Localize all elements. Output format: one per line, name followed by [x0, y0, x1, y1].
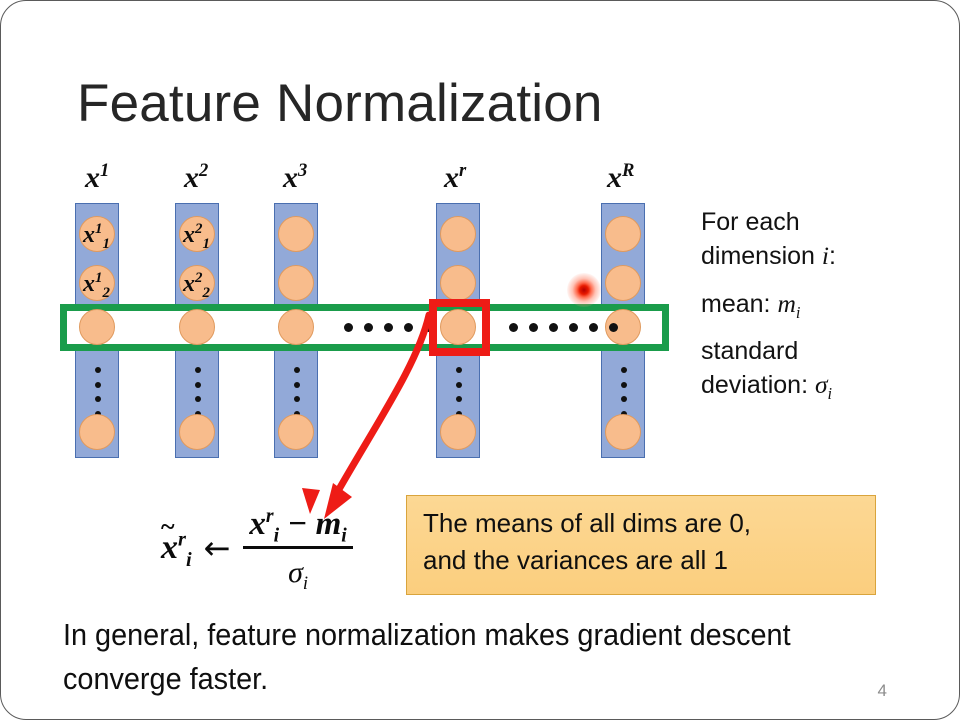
node-label-x2-1: x21 — [183, 223, 210, 247]
red-arrowhead-small — [298, 488, 324, 518]
summary-line-1: In general, feature normalization makes … — [63, 613, 881, 657]
node-circle — [278, 216, 314, 252]
node-label-sub: 1 — [102, 236, 109, 252]
node-circle — [440, 265, 476, 301]
column-label-base: x — [184, 161, 199, 194]
horizontal-ellipsis-right — [509, 323, 618, 332]
dimension-stats-text: For each dimension i: mean: mi standard … — [701, 206, 941, 416]
column-label-3: x3 — [283, 161, 307, 195]
node-label-sup: 2 — [195, 221, 202, 237]
mean-block: mean: mi — [701, 287, 941, 321]
node-label-x1-1: x11 — [83, 223, 110, 247]
numerator-x-base: x — [249, 506, 266, 542]
summary-text: In general, feature normalization makes … — [63, 613, 881, 701]
page-number: 4 — [878, 681, 887, 701]
node-circle-highlighted — [179, 309, 215, 345]
red-curved-arrow — [296, 311, 496, 526]
mean-symbol-base: m — [777, 289, 795, 318]
node-circle — [605, 265, 641, 301]
formula-lhs-sup: r — [178, 528, 186, 550]
deviation-label: deviation: — [701, 371, 815, 399]
formula-denominator: σi — [288, 549, 308, 589]
column-label-R: xR — [607, 161, 634, 195]
standard-line: standard — [701, 335, 941, 368]
for-each-line: For each — [701, 206, 941, 239]
column-label-sup: r — [459, 160, 466, 181]
for-each-dimension-block: For each dimension i: — [701, 206, 941, 273]
sigma-symbol-sub: i — [828, 384, 833, 403]
formula-lhs: ~xri — [161, 531, 192, 565]
slide-canvas: Feature Normalization x1 x2 x3 xr xR x11… — [0, 0, 960, 720]
node-label-base: x — [83, 271, 95, 297]
dimension-colon: : — [829, 242, 836, 270]
mean-symbol: mi — [777, 289, 800, 318]
node-label-sub: 1 — [202, 236, 209, 252]
column-label-base: x — [607, 161, 622, 194]
node-label-base: x — [183, 222, 195, 248]
column-label-base: x — [283, 161, 298, 194]
node-circle — [605, 414, 641, 450]
node-label-sup: 1 — [95, 221, 102, 237]
formula-lhs-tilde-wrap: ~x — [161, 531, 178, 565]
node-label-base: x — [83, 222, 95, 248]
dimension-symbol: i — [822, 241, 829, 270]
dimension-line: dimension i: — [701, 239, 941, 273]
laser-pointer-dot — [567, 273, 601, 307]
node-circle — [278, 265, 314, 301]
formula-lhs-sub: i — [186, 548, 192, 570]
column-label-sup: 2 — [199, 160, 208, 181]
summary-line-2: converge faster. — [63, 657, 881, 701]
standard-deviation-block: standard deviation: σi — [701, 335, 941, 402]
node-circle — [79, 414, 115, 450]
page-title: Feature Normalization — [77, 73, 603, 134]
node-label-sup: 1 — [95, 270, 102, 286]
node-label-sup: 2 — [195, 270, 202, 286]
column-label-sup: R — [622, 160, 634, 181]
column-label-sup: 3 — [298, 160, 307, 181]
column-label-1: x1 — [85, 161, 109, 195]
column-label-base: x — [444, 161, 459, 194]
node-label-x2-2: x22 — [183, 272, 210, 296]
mean-symbol-sub: i — [796, 303, 801, 322]
formula-assign-arrow: ← — [204, 529, 231, 567]
node-label-sub: 2 — [102, 285, 109, 301]
dimension-label: dimension — [701, 242, 822, 270]
sigma-symbol-base: σ — [815, 370, 828, 399]
column-label-base: x — [85, 161, 100, 194]
column-label-2: x2 — [184, 161, 208, 195]
formula-lhs-tilde: ~ — [161, 514, 175, 540]
denominator-sub: i — [303, 573, 308, 594]
column-label-r: xr — [444, 161, 466, 195]
node-circle — [605, 216, 641, 252]
node-label-base: x — [183, 271, 195, 297]
callout-line-2: and the variances are all 1 — [423, 542, 859, 579]
numerator-mean-sub: i — [341, 525, 347, 547]
column-label-sup: 1 — [100, 160, 109, 181]
node-label-x1-2: x12 — [83, 272, 110, 296]
mean-label: mean: — [701, 290, 777, 318]
node-label-sub: 2 — [202, 285, 209, 301]
node-circle — [179, 414, 215, 450]
node-circle — [440, 216, 476, 252]
deviation-line: deviation: σi — [701, 368, 941, 402]
node-circle-highlighted — [79, 309, 115, 345]
numerator-x-sup: r — [266, 505, 274, 527]
sigma-symbol: σi — [815, 370, 832, 399]
denominator-base: σ — [288, 556, 303, 589]
